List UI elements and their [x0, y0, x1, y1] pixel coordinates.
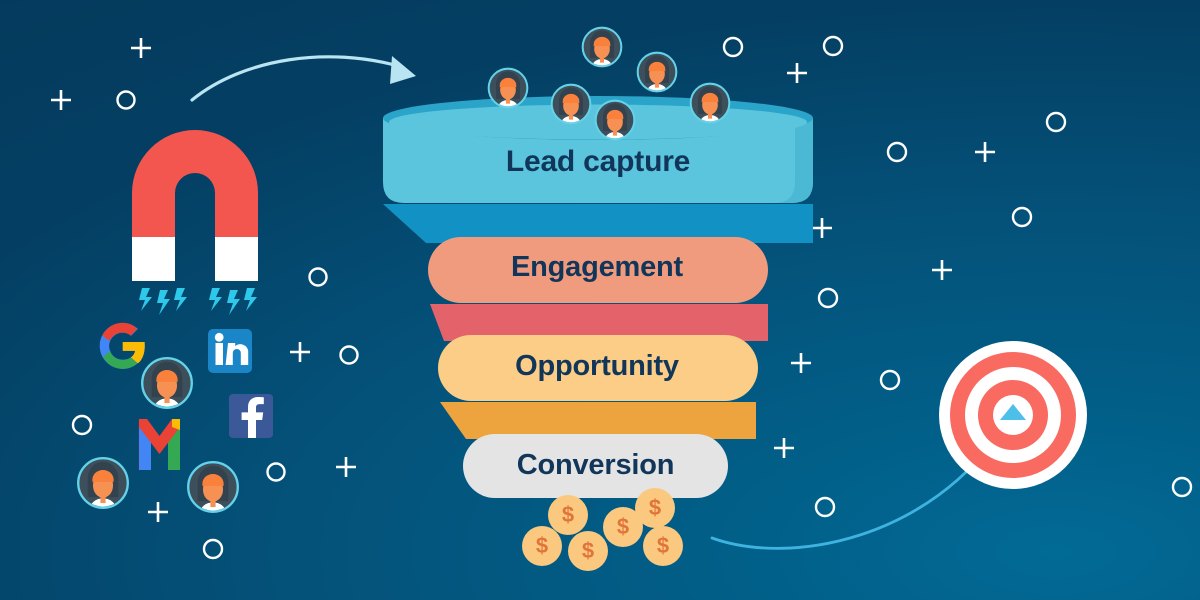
avatar [78, 458, 128, 518]
lead-magnet [132, 130, 258, 315]
decor-plus [148, 502, 168, 522]
decor-circle [824, 37, 842, 55]
funnel-stage-engagement[interactable] [428, 237, 768, 303]
decor-circle [268, 464, 285, 481]
avatar [142, 358, 192, 418]
decor-plus [932, 260, 952, 280]
funnel-stage-conversion[interactable] [463, 434, 728, 498]
coin: $ [568, 531, 608, 571]
google-icon[interactable] [100, 323, 145, 369]
decor-circle [310, 269, 327, 286]
illustration-canvas: $ $ $ $ $ $ [0, 0, 1200, 600]
decor-plus [791, 353, 811, 373]
svg-text:$: $ [649, 495, 661, 520]
coin: $ [635, 488, 675, 528]
decor-circle [816, 498, 834, 516]
svg-text:$: $ [582, 538, 594, 563]
decor-plus [336, 457, 356, 477]
decor-circle [724, 38, 742, 56]
decor-circle [881, 371, 899, 389]
avatar [638, 53, 677, 100]
decor-plus [131, 38, 151, 58]
decor-plus [290, 342, 310, 362]
decor-plus [975, 142, 995, 162]
decor-plus [812, 218, 832, 238]
avatar [583, 28, 622, 75]
decor-circle [888, 143, 906, 161]
magnet-sparks [139, 288, 257, 315]
decor-circle [73, 416, 91, 434]
svg-text:$: $ [617, 514, 629, 539]
opportunity-pill [438, 335, 758, 401]
inbound-flow-arrow [192, 56, 416, 100]
decor-circle [1173, 478, 1191, 496]
conversion-pill [463, 434, 728, 498]
decor-circle [118, 92, 135, 109]
decor-plus [51, 90, 71, 110]
funnel-stage-opportunity[interactable] [438, 335, 758, 401]
facebook-icon[interactable] [229, 394, 273, 438]
svg-text:$: $ [562, 502, 574, 527]
engagement-pill [428, 237, 768, 303]
decor-circle [1047, 113, 1065, 131]
gmail-icon[interactable] [139, 419, 180, 470]
svg-text:$: $ [657, 533, 669, 558]
svg-text:$: $ [536, 533, 548, 558]
bullseye-target [939, 341, 1087, 489]
coin: $ [548, 495, 588, 535]
decor-plus [787, 63, 807, 83]
coin: $ [643, 526, 683, 566]
linkedin-icon[interactable] [208, 329, 252, 373]
magnet-tip-right [215, 237, 258, 281]
funnel-illustration: $ $ $ $ $ $ [0, 0, 1200, 600]
decor-circle [204, 540, 222, 558]
magnet-tip-left [132, 237, 175, 281]
coin: $ [522, 526, 562, 566]
avatar [188, 462, 238, 522]
coin-group: $ $ $ $ $ $ [522, 488, 683, 571]
decor-circle [341, 347, 358, 364]
decor-plus [774, 438, 794, 458]
decor-circle [1013, 208, 1031, 226]
decor-circle [819, 289, 837, 307]
